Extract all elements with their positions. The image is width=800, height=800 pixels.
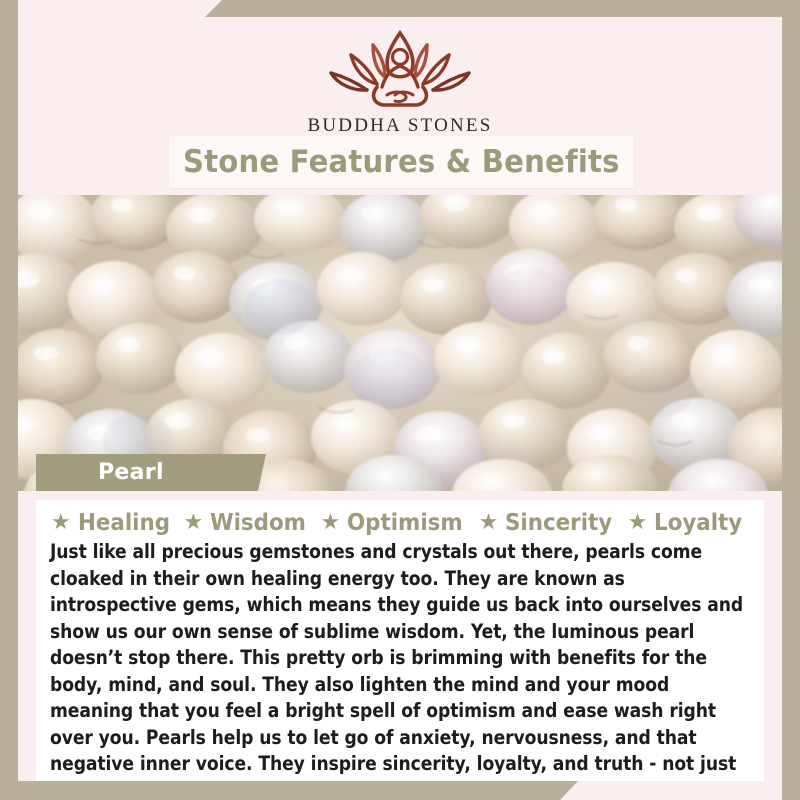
- frame-right-accent: [782, 0, 800, 800]
- poster-root: BUDDHA STONES Stone Features & Benefits: [0, 0, 800, 800]
- poster-canvas: BUDDHA STONES Stone Features & Benefits: [18, 17, 782, 781]
- star-icon: ★: [184, 511, 204, 533]
- title-banner: Stone Features & Benefits: [169, 136, 634, 188]
- star-icon: ★: [479, 511, 499, 533]
- feature-keyword-label: Loyalty: [654, 510, 742, 536]
- brand-wordmark: BUDDHA STONES: [307, 115, 492, 137]
- frame-left-accent: [0, 0, 18, 800]
- star-icon: ★: [320, 511, 340, 533]
- feature-keyword-label: Optimism: [347, 510, 463, 536]
- star-icon: ★: [51, 511, 71, 533]
- frame-bottom-accent: [0, 781, 800, 800]
- feature-keyword-label: Wisdom: [210, 510, 306, 536]
- feature-keyword-label: Sincerity: [505, 510, 612, 536]
- description-body: Just like all precious gemstones and cry…: [50, 539, 750, 781]
- stone-name-label: Pearl: [98, 460, 164, 485]
- lotus-meditation-logo-icon: [315, 25, 485, 111]
- content-panel: ★ Healing ★ Wisdom ★ Optimism ★ Sincerit…: [36, 500, 764, 781]
- brand-logo-block: BUDDHA STONES: [18, 25, 782, 137]
- star-icon: ★: [628, 511, 648, 533]
- hero-image: [18, 195, 782, 491]
- feature-keywords-row: ★ Healing ★ Wisdom ★ Optimism ★ Sincerit…: [50, 510, 750, 536]
- page-title: Stone Features & Benefits: [183, 144, 620, 180]
- feature-keyword-sincerity: ★ Sincerity: [479, 510, 621, 536]
- feature-keyword-optimism: ★ Optimism: [320, 510, 471, 536]
- stone-name-tag: Pearl: [36, 454, 266, 491]
- feature-keyword-label: Healing: [78, 510, 170, 536]
- feature-keyword-loyalty: ★ Loyalty: [628, 510, 750, 536]
- feature-keyword-wisdom: ★ Wisdom: [184, 510, 314, 536]
- frame-top-accent: [0, 0, 800, 17]
- feature-keyword-healing: ★ Healing: [51, 510, 177, 536]
